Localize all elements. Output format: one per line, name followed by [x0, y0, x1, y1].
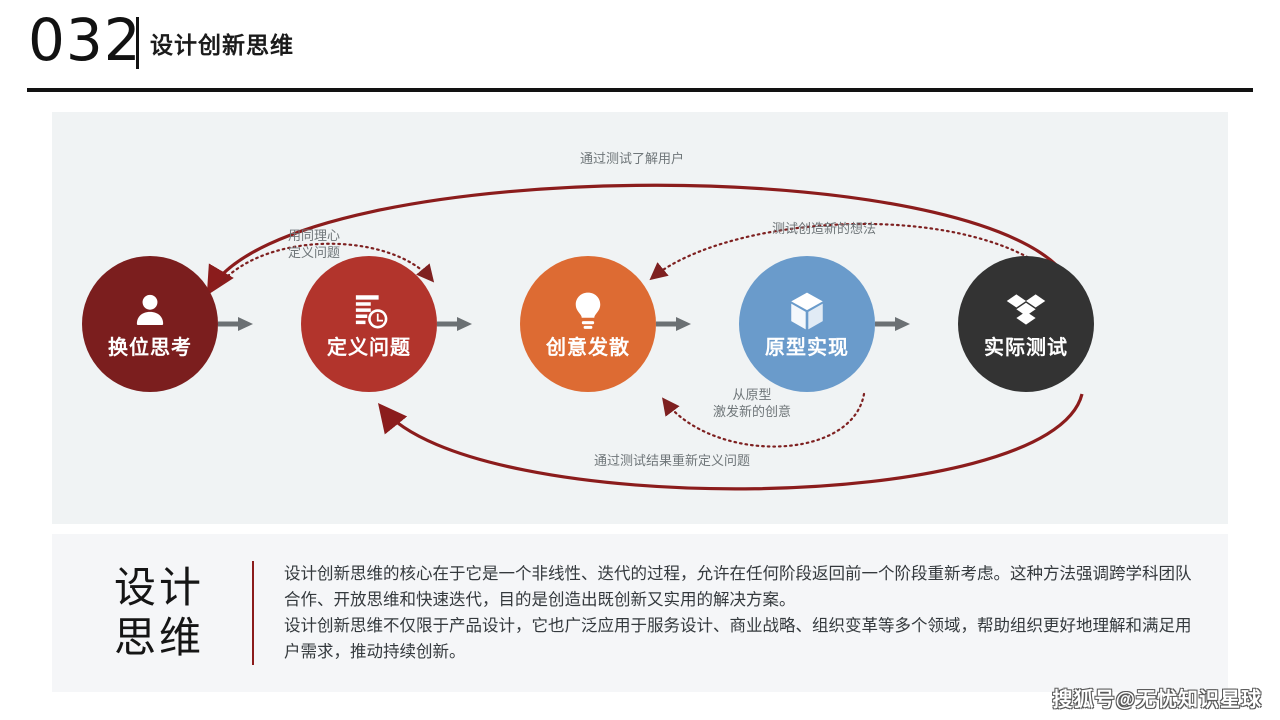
- summary-panel: 设计 思维 设计创新思维的核心在于它是一个非线性、迭代的过程，允许在任何阶段返回…: [52, 534, 1228, 692]
- watermark: 搜狐号@无忧知识星球: [1052, 683, 1262, 712]
- summary-heading: 设计 思维: [66, 563, 252, 663]
- page-number: 032: [28, 8, 142, 72]
- page-title: 设计创新思维: [150, 26, 294, 60]
- summary-body: 设计创新思维的核心在于它是一个非线性、迭代的过程，允许在任何阶段返回前一个阶段重…: [284, 561, 1228, 665]
- diagram-node-label: 创意发散: [546, 336, 630, 360]
- person-icon: [127, 288, 173, 334]
- connector-arrow-4: [875, 317, 910, 331]
- arc-label-empathy-to-define: 用同理心 定义问题: [244, 227, 384, 261]
- summary-paragraph-1: 设计创新思维的核心在于它是一个非线性、迭代的过程，允许在任何阶段返回前一个阶段重…: [284, 561, 1192, 613]
- dropbox-diamond-icon: [1003, 288, 1049, 334]
- diagram-node-label: 定义问题: [327, 336, 411, 360]
- diagram-node-label: 实际测试: [984, 336, 1068, 360]
- summary-divider: [252, 561, 254, 665]
- arc-label-test-redefine: 通过测试结果重新定义问题: [522, 452, 822, 469]
- lightbulb-icon: [565, 288, 611, 334]
- connector-arrow-1: [218, 317, 253, 331]
- diagram-node-empathy[interactable]: 换位思考: [82, 256, 218, 392]
- arc-label-test-to-empathy: 通过测试了解用户: [502, 150, 762, 167]
- cube-icon: [784, 288, 830, 334]
- connector-arrow-2: [437, 317, 472, 331]
- diagram-node-define[interactable]: 定义问题: [301, 256, 437, 392]
- header-divider: [136, 17, 139, 69]
- page-header: 032 设计创新思维: [0, 0, 1280, 96]
- diagram-node-ideate[interactable]: 创意发散: [520, 256, 656, 392]
- summary-paragraph-2: 设计创新思维不仅限于产品设计，它也广泛应用于服务设计、商业战略、组织变革等多个领…: [284, 613, 1192, 665]
- document-clock-icon: [346, 288, 392, 334]
- header-rule: [27, 88, 1253, 92]
- summary-heading-line-1: 设计: [66, 563, 252, 613]
- connector-arrow-3: [656, 317, 691, 331]
- diagram-node-prototype[interactable]: 原型实现: [739, 256, 875, 392]
- diagram-node-label: 换位思考: [108, 336, 192, 360]
- arc-label-prototype-to-ideas: 从原型 激发新的创意: [672, 386, 832, 420]
- diagram-node-label: 原型实现: [765, 336, 849, 360]
- summary-heading-line-2: 思维: [66, 613, 252, 663]
- arc-label-test-creates-ideas: 测试创造新的想法: [724, 220, 924, 237]
- diagram-node-test[interactable]: 实际测试: [958, 256, 1094, 392]
- diagram-panel: 换位思考 定义问题 创意发散: [52, 112, 1228, 524]
